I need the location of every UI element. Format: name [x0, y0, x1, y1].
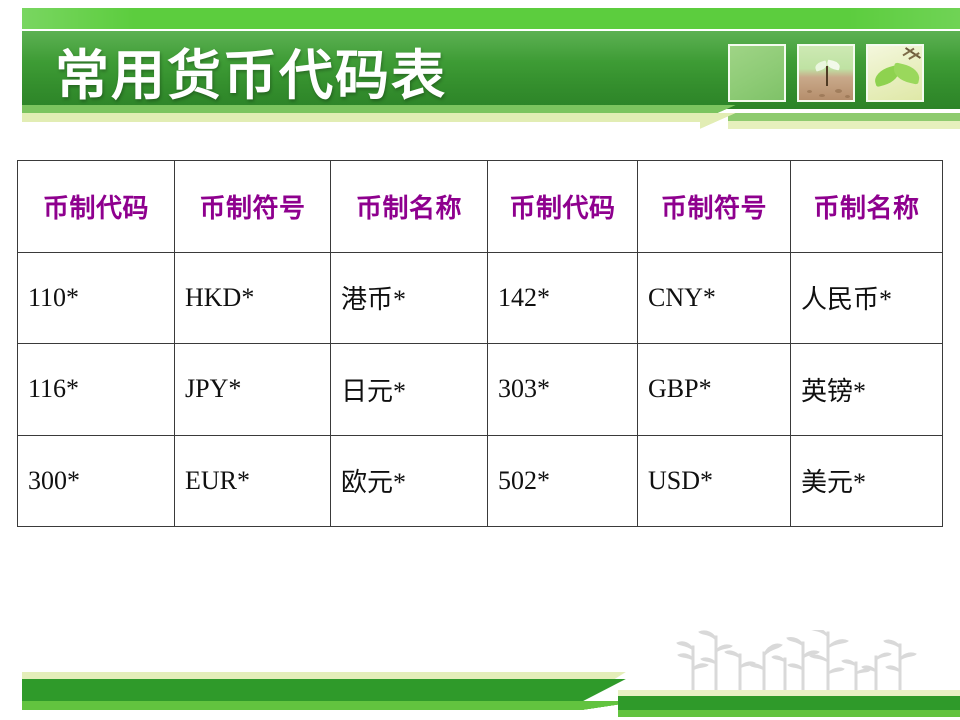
cell-name: 人民币*: [791, 252, 943, 344]
header-pale-band-right: [728, 121, 960, 129]
cell-code: 502*: [488, 435, 638, 527]
cell-name: 日元*: [331, 344, 488, 436]
footer-green-band-right: [618, 696, 960, 710]
cell-symbol: CNY*: [638, 252, 791, 344]
sprout-silhouette-decoration: [675, 630, 920, 692]
cell-code: 142*: [488, 252, 638, 344]
seedling-stem-icon: [826, 66, 828, 86]
cell-symbol: USD*: [638, 435, 791, 527]
seedling-thumbnail: [797, 44, 855, 102]
currency-code-table-wrapper: 币制代码 币制符号 币制名称 币制代码 币制符号 币制名称 110* HKD* …: [17, 160, 942, 527]
footer-pale-band-left: [22, 672, 582, 679]
cell-symbol: GBP*: [638, 344, 791, 436]
table-header-row: 币制代码 币制符号 币制名称 币制代码 币制符号 币制名称: [18, 161, 943, 253]
column-header-code-1: 币制代码: [18, 161, 175, 253]
cell-symbol: JPY*: [175, 344, 331, 436]
soil-speck-icon: [819, 94, 825, 97]
cell-code: 110*: [18, 252, 175, 344]
cell-code: 303*: [488, 344, 638, 436]
footer-green-band-left: [22, 679, 582, 701]
plain-green-thumbnail: [728, 44, 786, 102]
table-row: 116* JPY* 日元* 303* GBP* 英镑*: [18, 344, 943, 436]
column-header-code-2: 币制代码: [488, 161, 638, 253]
seedling-leaf-right-icon: [826, 60, 841, 71]
slide-canvas: 常用货币代码表 币制代: [0, 0, 960, 720]
header-pale-band-left: [22, 113, 712, 122]
column-header-name-2: 币制名称: [791, 161, 943, 253]
header-thumbnail-group: [728, 44, 942, 102]
column-header-name-1: 币制名称: [331, 161, 488, 253]
soil-speck-icon: [845, 95, 850, 98]
cell-name: 港币*: [331, 252, 488, 344]
page-title: 常用货币代码表: [55, 33, 695, 107]
column-header-symbol-2: 币制符号: [638, 161, 791, 253]
footer-light-band-right: [618, 710, 960, 717]
cell-name: 英镑*: [791, 344, 943, 436]
header-stripe-sheen: [22, 8, 960, 29]
cell-symbol: HKD*: [175, 252, 331, 344]
table-row: 110* HKD* 港币* 142* CNY* 人民币*: [18, 252, 943, 344]
cell-code: 116*: [18, 344, 175, 436]
soil-speck-icon: [807, 90, 812, 93]
cell-name: 美元*: [791, 435, 943, 527]
soil-speck-icon: [835, 89, 842, 93]
table-row: 300* EUR* 欧元* 502* USD* 美元*: [18, 435, 943, 527]
column-header-symbol-1: 币制符号: [175, 161, 331, 253]
cell-name: 欧元*: [331, 435, 488, 527]
header-step-band-right: [728, 113, 960, 121]
leaf-right-icon: [892, 62, 922, 84]
cell-code: 300*: [18, 435, 175, 527]
footer-light-band-left: [22, 701, 582, 710]
currency-code-table: 币制代码 币制符号 币制名称 币制代码 币制符号 币制名称 110* HKD* …: [17, 160, 943, 527]
leaf-dragonfly-thumbnail: [866, 44, 924, 102]
cell-symbol: EUR*: [175, 435, 331, 527]
